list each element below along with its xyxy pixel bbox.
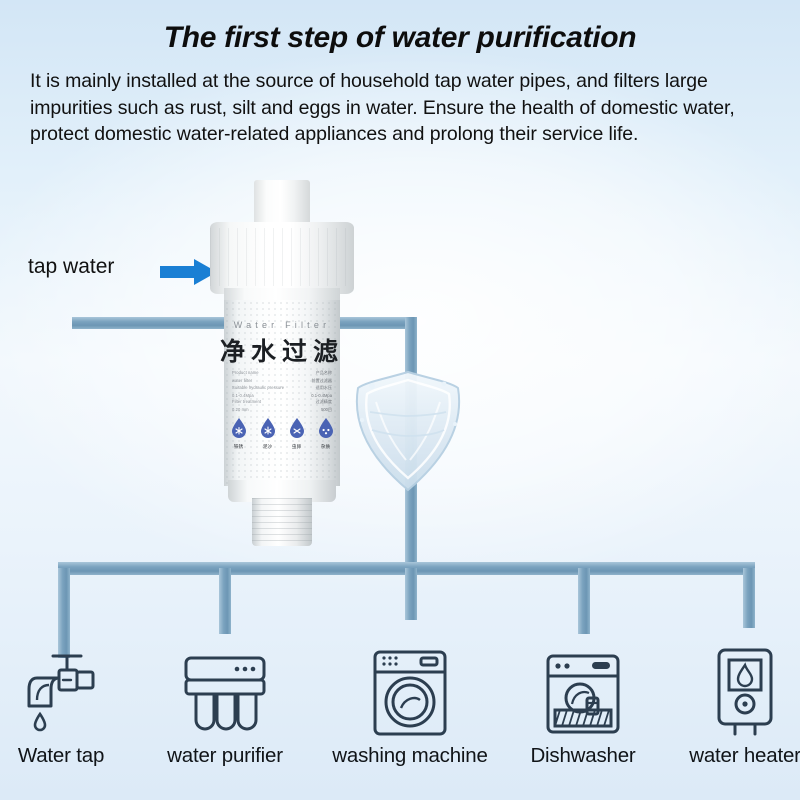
filter-outlet-thread [252,498,312,546]
branch-pipe-dishwasher [578,568,590,634]
appliance-dishwasher: Dishwasher [503,630,663,768]
page-title: The first step of water purification [0,21,800,55]
filter-target-label: 铁锈 [228,444,250,450]
spec-key: Filter treatment [232,399,261,404]
filter-brand-chinese: 净水过滤 [216,332,348,368]
appliance-label: water purifier [145,744,305,768]
filter-cap [210,222,354,294]
spec-value: 产品名称 [316,370,332,376]
filter-target-item: 虫卵 [286,418,308,450]
filter-target-label: 杂质 [315,444,337,450]
appliance-icon-wrap [503,630,663,740]
rust-droplet-icon [231,418,247,438]
water-filter-product: Water Filter 净水过滤 Product name 产品名称 wate… [196,180,368,550]
filter-target-label: 虫卵 [286,444,308,450]
spec-row: Product name 产品名称 [232,370,332,376]
appliance-label: washing machine [330,744,490,768]
appliance-washing-machine: washing machine [330,630,490,768]
appliance-icon-wrap [0,630,141,740]
water-heater-icon [705,644,785,740]
filter-target-label: 泥沙 [257,444,279,450]
spec-value: 500目 [321,407,332,413]
particle-droplet-icon [318,418,334,438]
spec-row: 0.1-0.4Mpa 0.1-0.4Mpa [232,393,332,398]
appliance-icon-wrap [665,630,800,740]
spec-value: 过滤精度 [316,399,332,405]
water-splash-shield-icon [348,368,468,494]
spec-key: 0.1-0.4Mpa [232,393,254,398]
spec-value: 适用水压 [316,385,332,391]
silt-droplet-icon [260,418,276,438]
spec-row: Filter treatment 过滤精度 [232,399,332,405]
spec-key: Product name [232,370,259,375]
faucet-icon [15,644,107,740]
filter-target-item: 杂质 [315,418,337,450]
appliance-icon-wrap [330,630,490,740]
appliance-water-tap: Water tap [0,630,141,768]
tap-water-label: tap water [28,255,114,279]
appliance-label: water heater [665,744,800,768]
spec-row: Suitable hydraulic pressure 适用水压 [232,385,332,391]
insect-droplet-icon [289,418,305,438]
spec-key: Suitable hydraulic pressure [232,385,284,390]
spec-key: water filter [232,378,252,383]
appliance-icon-wrap [145,630,305,740]
filter-target-item: 泥沙 [257,418,279,450]
spec-key: 0.20 mm [232,407,249,412]
spec-value: 前置过滤器 [312,378,332,384]
spec-row: 0.20 mm 500目 [232,407,332,413]
dishwasher-icon [540,648,626,740]
filter-target-item: 铁锈 [228,418,250,450]
filter-spec-list: Product name 产品名称 water filter 前置过滤器 Sui… [232,370,332,415]
appliance-label: Water tap [0,744,141,768]
washing-machine-icon [367,646,453,740]
filter-target-icons: 铁锈 泥沙 虫卵 [224,418,340,450]
water-purifier-icon [179,648,271,740]
branch-pipe-washing-machine [405,568,417,620]
infographic-canvas: The first step of water purification It … [0,0,800,800]
appliance-water-heater: water heater [665,630,800,768]
appliance-water-purifier: water purifier [145,630,305,768]
branch-pipe-water-purifier [219,568,231,634]
filter-brand-english: Water Filter [220,320,344,330]
spec-value: 0.1-0.4Mpa [311,393,332,398]
spec-row: water filter 前置过滤器 [232,378,332,384]
appliance-label: Dishwasher [503,744,663,768]
filter-neck [254,180,310,228]
description-paragraph: It is mainly installed at the source of … [30,68,778,148]
branch-pipe-water-heater [743,568,755,628]
